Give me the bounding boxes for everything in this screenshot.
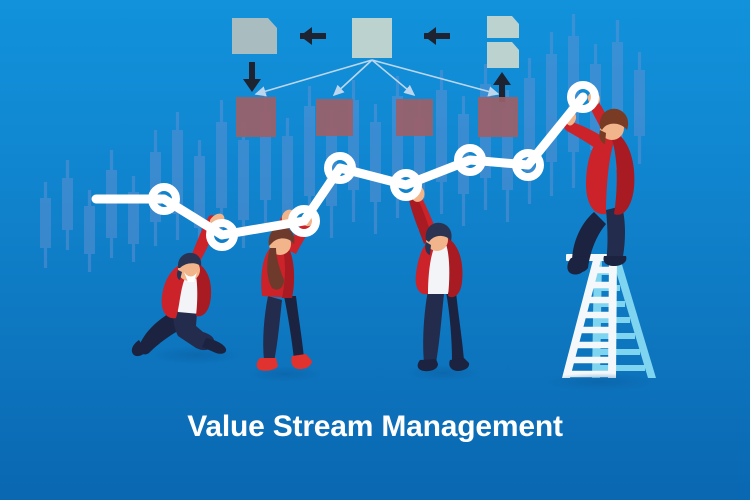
poster-canvas: Value Stream Management — [0, 0, 750, 500]
process-block-block-3 — [396, 99, 433, 136]
document-shape-left — [232, 18, 277, 54]
document-shape-right-top — [487, 16, 519, 38]
illustration-scene — [0, 0, 750, 500]
process-block-block-4 — [478, 97, 518, 137]
source-node-square — [352, 18, 392, 58]
process-block-block-1 — [236, 97, 276, 137]
document-shape-right-bottom — [487, 42, 519, 68]
process-block-block-2 — [316, 99, 353, 136]
